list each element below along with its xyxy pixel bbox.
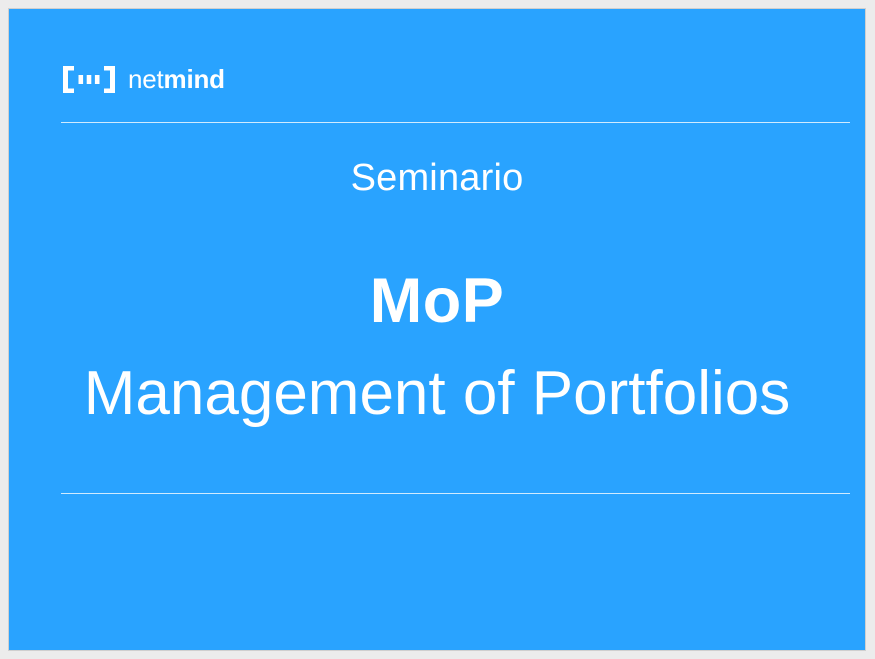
course-title: Management of Portfolios [9,363,865,425]
netmind-logo: netmind [63,62,225,96]
divider-bottom [61,493,850,494]
title-block: Seminario MoP Management of Portfolios [9,135,865,425]
slide-canvas: netmind Seminario MoP Management of Port… [8,8,866,651]
wordmark-mind: mind [164,66,225,92]
course-acronym: MoP [9,270,865,333]
netmind-bracket-icon [63,66,115,93]
netmind-wordmark: netmind [128,66,225,92]
divider-top [61,122,850,123]
seminar-kicker: Seminario [9,159,865,197]
wordmark-net: net [128,66,164,92]
